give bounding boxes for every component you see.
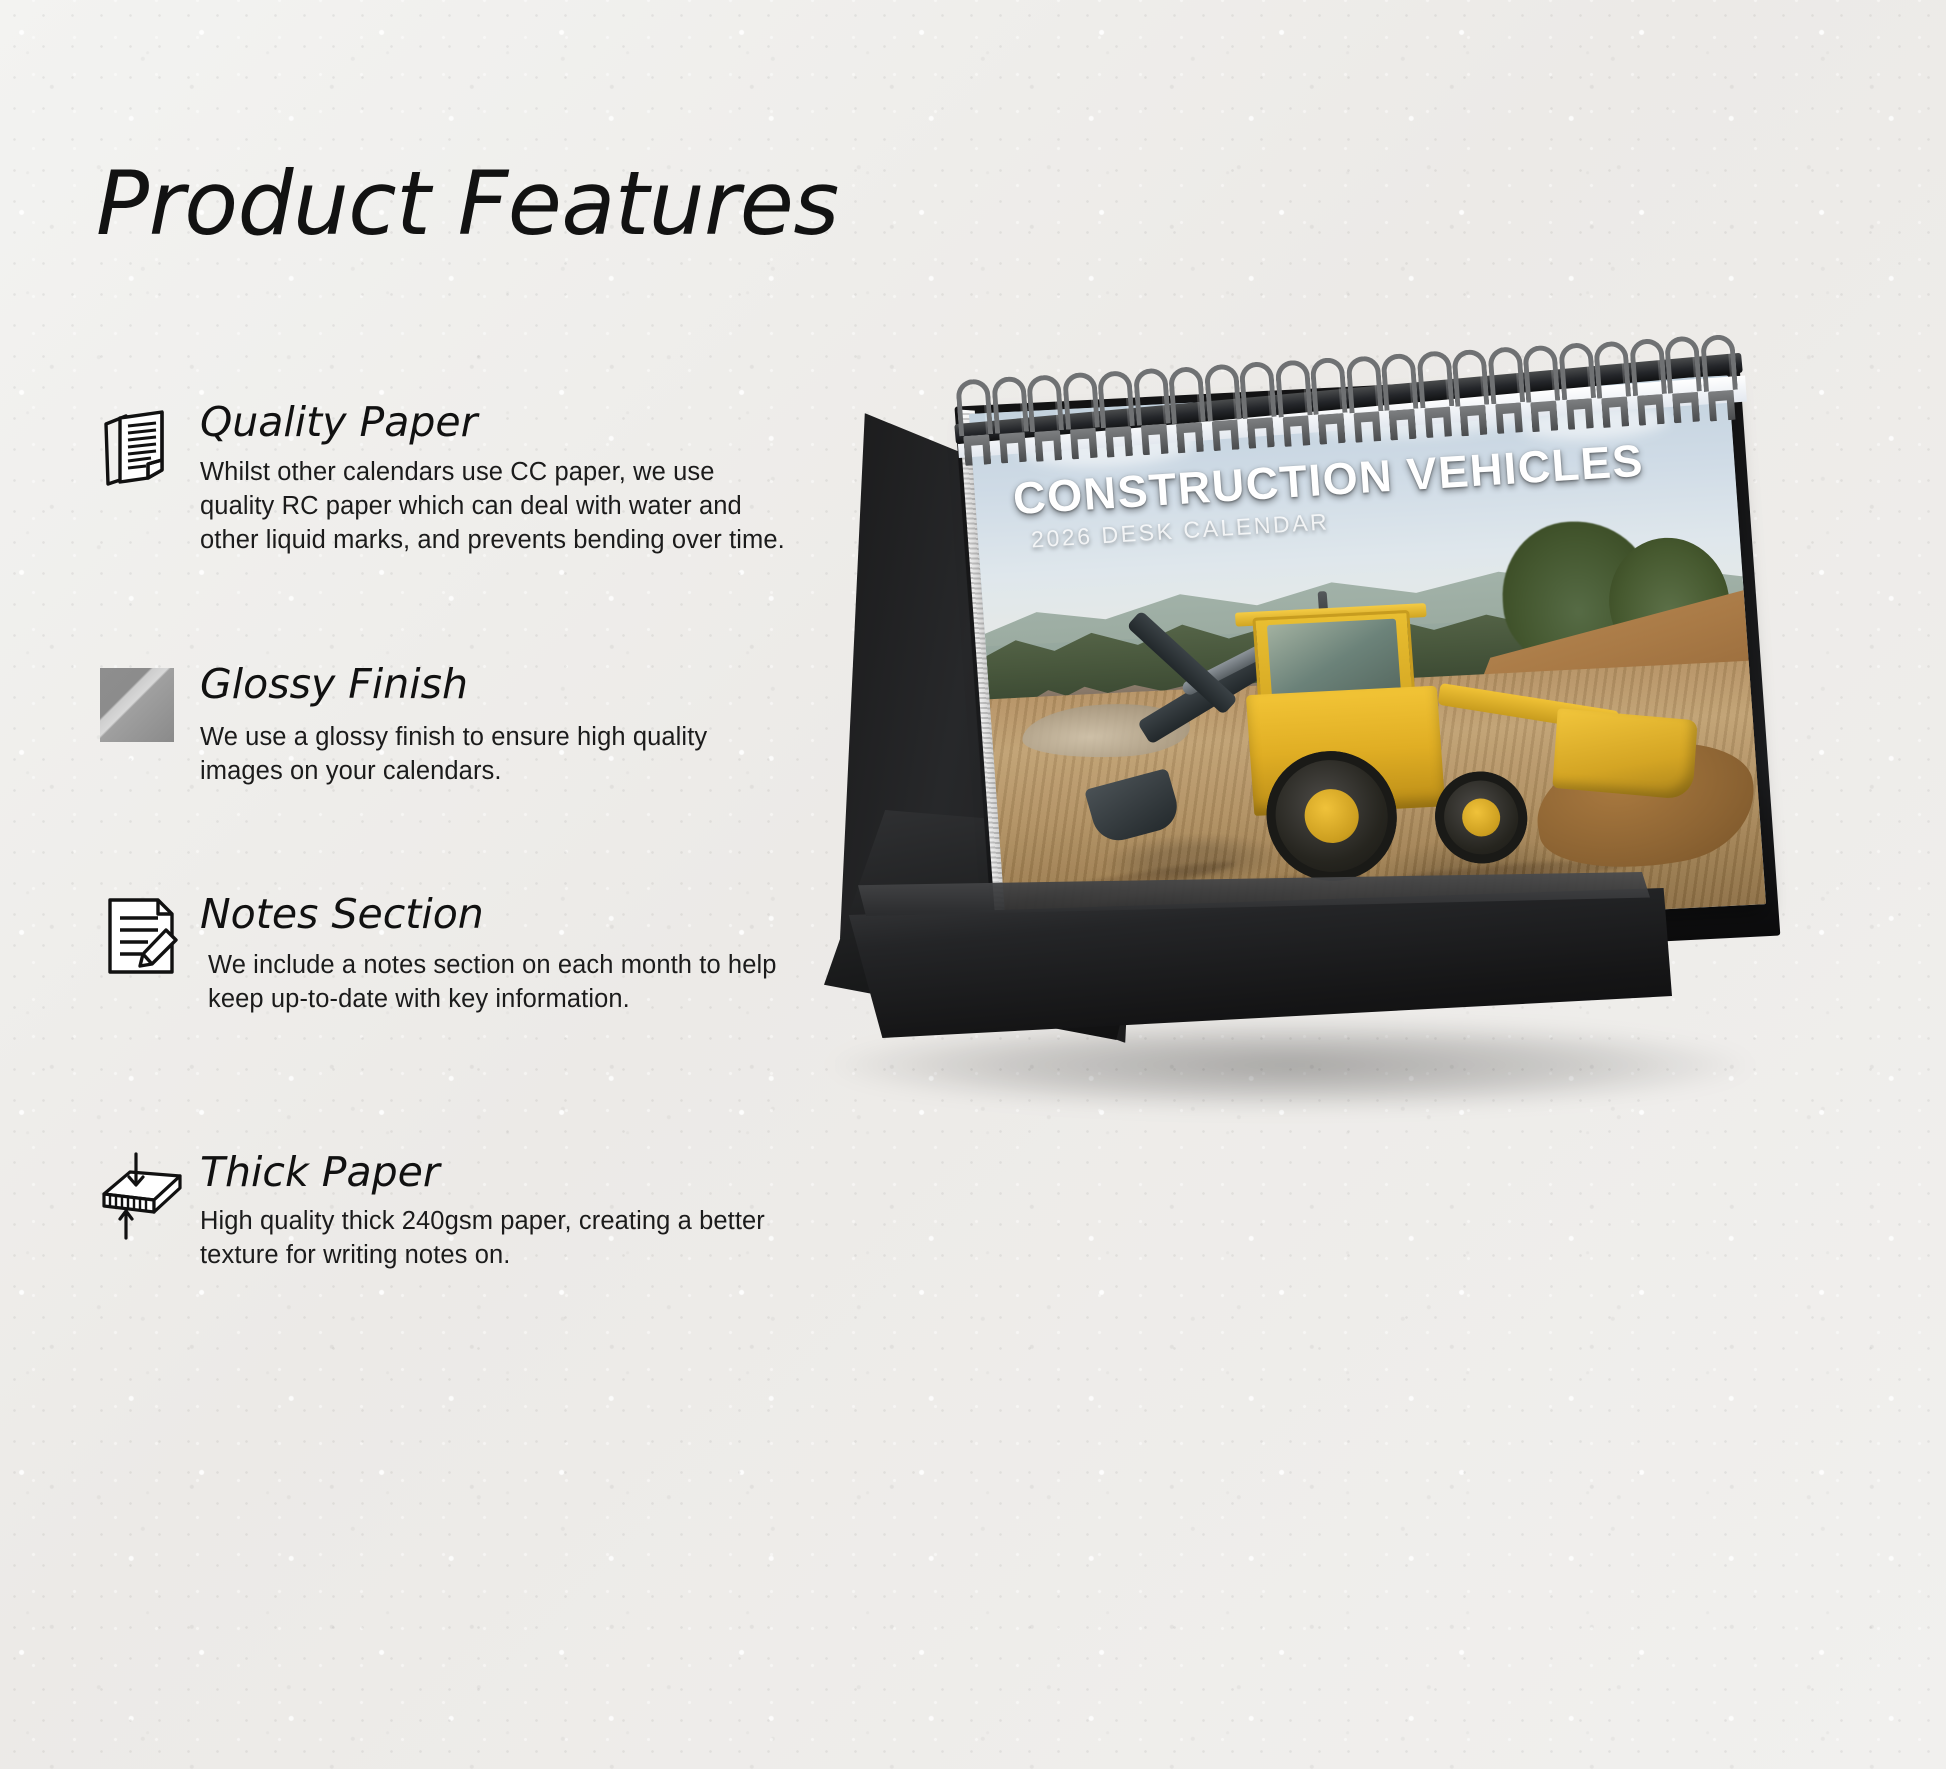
note-with-pencil-icon <box>96 890 188 982</box>
cover-photograph: CONSTRUCTION VEHICLES 2026 DESK CALENDAR <box>969 376 1766 943</box>
feature-item-quality-paper: Quality Paper Whilst other calendars use… <box>96 400 796 558</box>
binding-ring <box>1416 351 1454 409</box>
binding-ring-foot <box>999 432 1027 464</box>
desk-calendar-mockup: CONSTRUCTION VEHICLES 2026 DESK CALENDAR <box>840 380 1840 1140</box>
feature-body: High quality thick 240gsm paper, creatin… <box>200 1205 796 1273</box>
glossy-gradient-square-icon <box>96 662 188 754</box>
feature-body: We include a notes section on each month… <box>208 949 796 1017</box>
binding-ring <box>1558 342 1596 400</box>
binding-ring <box>1132 367 1170 425</box>
binding-ring <box>1380 353 1418 411</box>
feature-body: We use a glossy finish to ensure high qu… <box>200 721 796 789</box>
binding-ring-foot <box>1176 422 1204 454</box>
feature-item-thick-paper: Thick Paper High quality thick 240gsm pa… <box>96 1150 796 1273</box>
binding-ring-foot <box>1247 417 1275 449</box>
binding-ring <box>1593 340 1631 398</box>
binding-ring <box>1487 346 1525 404</box>
binding-ring-foot <box>1211 419 1239 451</box>
feature-body: Whilst other calendars use CC paper, we … <box>200 456 796 558</box>
binding-ring <box>1522 344 1560 402</box>
calendar-drop-shadow <box>830 1020 1750 1110</box>
binding-ring <box>1168 365 1206 423</box>
feature-title: Quality Paper <box>200 400 796 445</box>
feature-title: Notes Section <box>200 892 796 937</box>
backhoe-bucket <box>1084 768 1183 846</box>
photo-backhoe-loader <box>1083 592 1664 895</box>
feature-title: Glossy Finish <box>200 662 796 707</box>
front-wheel <box>1432 769 1530 865</box>
thick-paper-slab-icon <box>96 1150 188 1242</box>
binding-ring <box>1699 334 1737 392</box>
feature-item-notes-section: Notes Section We include a notes section… <box>96 890 796 1017</box>
binding-ring <box>1239 361 1277 419</box>
binding-ring <box>1345 355 1383 413</box>
binding-ring <box>1629 338 1667 396</box>
binding-ring-foot <box>1034 430 1062 462</box>
binding-ring <box>991 376 1029 434</box>
binding-ring <box>1203 363 1241 421</box>
binding-ring-foot <box>963 434 991 466</box>
front-loader-bucket <box>1552 708 1697 800</box>
page-title: Product Features <box>96 152 839 255</box>
binding-ring <box>1062 372 1100 430</box>
binding-ring-foot <box>1105 426 1133 458</box>
binding-ring <box>1026 374 1064 432</box>
binding-ring <box>1664 336 1702 394</box>
binding-ring <box>1451 348 1489 406</box>
feature-title: Thick Paper <box>200 1150 796 1195</box>
binding-ring-foot <box>1282 415 1310 447</box>
binding-ring <box>955 378 993 436</box>
binding-ring <box>1310 357 1348 415</box>
features-column: Product Features Quality Paper Whilst ot… <box>0 0 860 1769</box>
feature-item-glossy-finish: Glossy Finish We use a glossy finish to … <box>96 662 796 789</box>
stacked-documents-icon <box>96 400 188 492</box>
binding-ring-foot <box>1140 424 1168 456</box>
binding-ring <box>1097 370 1135 428</box>
binding-ring-foot <box>1070 428 1098 460</box>
binding-ring <box>1274 359 1312 417</box>
